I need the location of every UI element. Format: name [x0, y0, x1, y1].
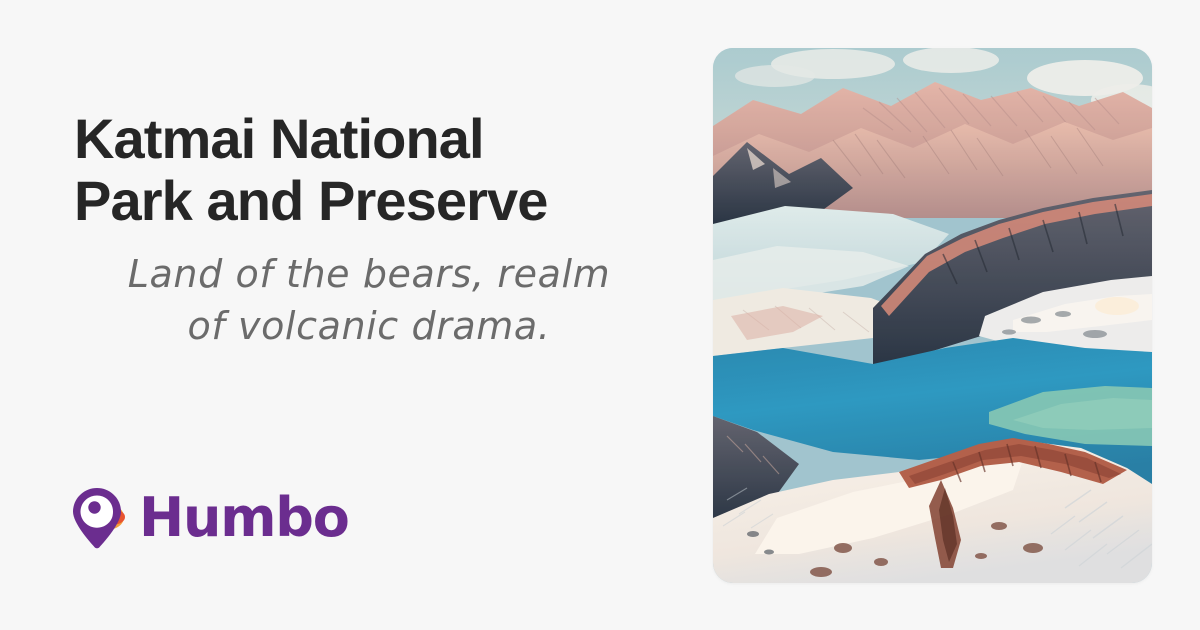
- social-share-card: Katmai National Park and Preserve Land o…: [0, 0, 1200, 630]
- page-subtitle: Land of the bears, realm of volcanic dra…: [74, 248, 664, 352]
- caldera-illustration: [713, 48, 1152, 583]
- page-title: Katmai National Park and Preserve: [74, 108, 674, 232]
- brand-wordmark: Humbo: [139, 491, 349, 545]
- text-column: Katmai National Park and Preserve Land o…: [0, 0, 700, 630]
- map-pin-puffin-icon: [72, 487, 128, 549]
- humbo-logo[interactable]: Humbo: [72, 487, 349, 549]
- destination-photo: [713, 48, 1152, 583]
